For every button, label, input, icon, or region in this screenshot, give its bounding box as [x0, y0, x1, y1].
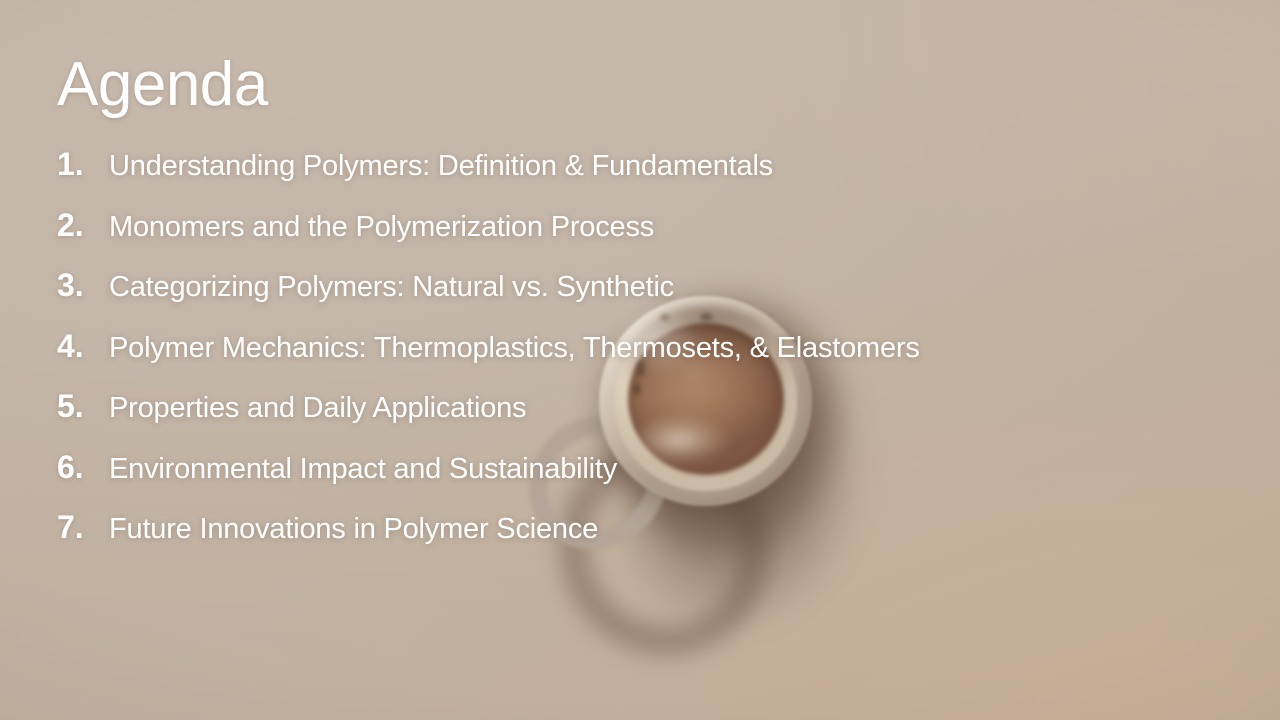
agenda-item-7: 7. Future Innovations in Polymer Science [57, 509, 1207, 570]
agenda-item-2: 2. Monomers and the Polymerization Proce… [57, 207, 1207, 268]
agenda-item-5: 5. Properties and Daily Applications [57, 388, 1207, 449]
agenda-item-3: 3. Categorizing Polymers: Natural vs. Sy… [57, 267, 1207, 328]
agenda-item-4: 4. Polymer Mechanics: Thermoplastics, Th… [57, 328, 1207, 389]
agenda-slide: Agenda 1. Understanding Polymers: Defini… [0, 0, 1280, 720]
slide-content: Agenda 1. Understanding Polymers: Defini… [0, 0, 1280, 720]
agenda-item-number: 5. [57, 388, 109, 425]
agenda-item-label: Categorizing Polymers: Natural vs. Synth… [109, 271, 674, 304]
page-title: Agenda [57, 52, 268, 117]
agenda-list: 1. Understanding Polymers: Definition & … [57, 146, 1207, 570]
agenda-item-label: Polymer Mechanics: Thermoplastics, Therm… [109, 332, 920, 365]
agenda-item-6: 6. Environmental Impact and Sustainabili… [57, 449, 1207, 510]
agenda-item-number: 3. [57, 267, 109, 304]
agenda-item-number: 2. [57, 207, 109, 244]
agenda-item-number: 7. [57, 509, 109, 546]
agenda-item-label: Environmental Impact and Sustainability [109, 453, 617, 486]
agenda-item-label: Future Innovations in Polymer Science [109, 513, 598, 546]
agenda-item-number: 4. [57, 328, 109, 365]
agenda-item-label: Properties and Daily Applications [109, 392, 526, 425]
agenda-item-label: Monomers and the Polymerization Process [109, 211, 654, 244]
agenda-item-label: Understanding Polymers: Definition & Fun… [109, 150, 773, 183]
agenda-item-number: 1. [57, 146, 109, 183]
agenda-item-number: 6. [57, 449, 109, 486]
agenda-item-1: 1. Understanding Polymers: Definition & … [57, 146, 1207, 207]
